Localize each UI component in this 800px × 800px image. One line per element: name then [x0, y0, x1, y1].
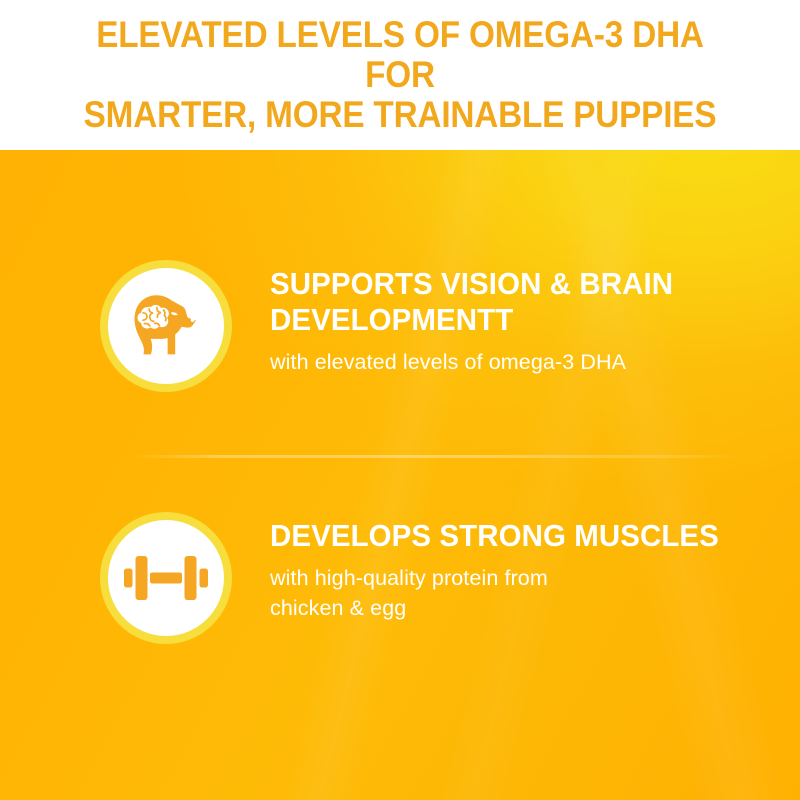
feature-subtitle: with high-quality protein from chicken &…	[270, 563, 743, 624]
feature-subtitle: with elevated levels of omega-3 DHA	[270, 347, 694, 378]
feature-text-strong-muscles: DEVELOPS STRONG MUSCLES with high-qualit…	[270, 512, 743, 624]
feature-text-vision-brain: SUPPORTS VISION & BRAIN DEVELOPMENTT wit…	[270, 260, 694, 377]
feature-row-strong-muscles: DEVELOPS STRONG MUSCLES with high-qualit…	[100, 512, 743, 644]
icon-disc	[108, 268, 224, 384]
benefits-panel: SUPPORTS VISION & BRAIN DEVELOPMENTT wit…	[0, 150, 800, 800]
icon-badge-vision-brain	[100, 260, 232, 392]
panel-sheen-overlay	[0, 150, 800, 800]
icon-badge-strong-muscles	[100, 512, 232, 644]
dog-head-brain-icon	[126, 290, 206, 362]
dumbbell-icon	[124, 552, 208, 604]
feature-title: SUPPORTS VISION & BRAIN DEVELOPMENTT	[270, 266, 673, 338]
feature-title: DEVELOPS STRONG MUSCLES	[270, 518, 719, 554]
icon-disc	[108, 520, 224, 636]
page-title: ELEVATED LEVELS OF OMEGA-3 DHA FOR SMART…	[58, 15, 742, 135]
header-band: ELEVATED LEVELS OF OMEGA-3 DHA FOR SMART…	[0, 0, 800, 150]
infographic-root: ELEVATED LEVELS OF OMEGA-3 DHA FOR SMART…	[0, 0, 800, 800]
feature-row-vision-brain: SUPPORTS VISION & BRAIN DEVELOPMENTT wit…	[100, 260, 694, 392]
section-divider	[130, 455, 740, 458]
